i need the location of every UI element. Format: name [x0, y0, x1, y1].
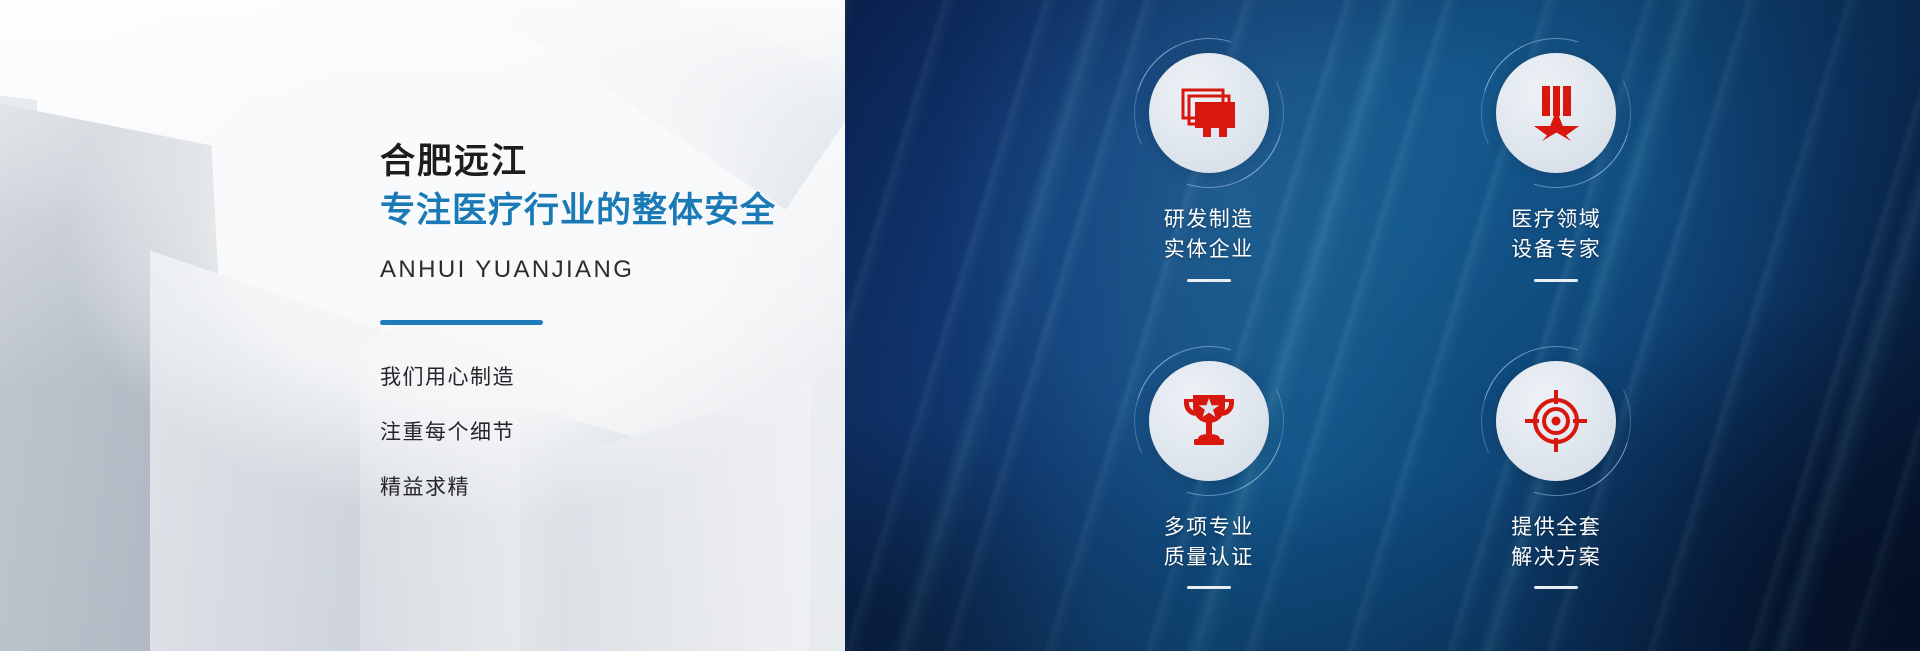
- feature-label-line2: 设备专家: [1511, 234, 1601, 264]
- feature-item-quality-certification[interactable]: 多项专业 质量认证: [1035, 334, 1383, 630]
- trophy-icon: [1179, 392, 1239, 450]
- feature-label: 提供全套 解决方案: [1511, 512, 1601, 573]
- feature-icon-wrap: [1481, 346, 1631, 496]
- feature-label-line2: 质量认证: [1164, 542, 1254, 572]
- feature-item-rd-manufacturing[interactable]: 研发制造 实体企业: [1035, 38, 1383, 334]
- feature-label: 多项专业 质量认证: [1164, 512, 1254, 573]
- slogan-item: 精益求精: [380, 477, 800, 498]
- left-hero-panel: 合肥远江 专注医疗行业的整体安全 ANHUI YUANJIANG 我们用心制造 …: [0, 0, 845, 651]
- title-divider: [380, 320, 543, 325]
- feature-label-line1: 医疗领域: [1511, 204, 1601, 234]
- company-title-pinyin: ANHUI YUANJIANG: [380, 256, 800, 284]
- right-feature-panel: 研发制造 实体企业: [845, 0, 1920, 651]
- slogan-item: 注重每个细节: [380, 422, 800, 443]
- feature-underline: [1534, 586, 1578, 589]
- feature-icon-wrap: [1481, 38, 1631, 188]
- feature-underline: [1187, 279, 1231, 282]
- feature-icon-badge: [1496, 361, 1616, 481]
- slogan-list: 我们用心制造 注重每个细节 精益求精: [380, 367, 800, 498]
- feature-label-line2: 实体企业: [1164, 234, 1254, 264]
- feature-item-medical-equipment[interactable]: 医疗领域 设备专家: [1383, 38, 1731, 334]
- feature-label: 研发制造 实体企业: [1164, 204, 1254, 265]
- feature-underline: [1187, 586, 1231, 589]
- feature-label: 医疗领域 设备专家: [1511, 204, 1601, 265]
- company-tagline: 专注医疗行业的整体安全: [380, 189, 800, 234]
- feature-grid: 研发制造 实体企业: [845, 0, 1920, 651]
- slogan-item: 我们用心制造: [380, 367, 800, 388]
- feature-label-line1: 研发制造: [1164, 204, 1254, 234]
- feature-icon-badge: [1149, 53, 1269, 173]
- feature-label-line2: 解决方案: [1511, 542, 1601, 572]
- feature-icon-wrap: [1134, 38, 1284, 188]
- feature-underline: [1534, 279, 1578, 282]
- target-icon: [1525, 390, 1587, 452]
- feature-icon-badge: [1496, 53, 1616, 173]
- feature-label-line1: 提供全套: [1511, 512, 1601, 542]
- factory-icon: [1179, 86, 1239, 140]
- feature-label-line1: 多项专业: [1164, 512, 1254, 542]
- hero-text-block: 合肥远江 专注医疗行业的整体安全 ANHUI YUANJIANG 我们用心制造 …: [380, 140, 800, 498]
- feature-icon-wrap: [1134, 346, 1284, 496]
- hero-banner: 合肥远江 专注医疗行业的整体安全 ANHUI YUANJIANG 我们用心制造 …: [0, 0, 1920, 651]
- company-title: 合肥远江: [380, 140, 800, 185]
- feature-icon-badge: [1149, 361, 1269, 481]
- medal-icon: [1529, 84, 1583, 142]
- feature-item-full-solution[interactable]: 提供全套 解决方案: [1383, 334, 1731, 630]
